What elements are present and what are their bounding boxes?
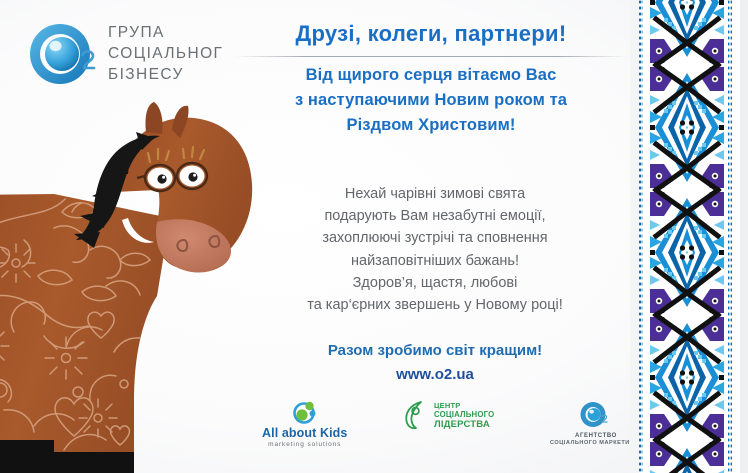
horse-hoof-left [0, 440, 54, 473]
o2-circle-logo-icon [579, 400, 613, 430]
wish-line-1: Від щирого серця вітаємо Вас [232, 63, 630, 88]
csl-line-3: ЛІДЕРСТВА [434, 420, 494, 430]
body-line-3: захоплюючі зустрічі та сповнення [240, 227, 630, 249]
website-url[interactable]: www.o2.ua [240, 364, 630, 386]
border-selvedge-left [639, 0, 643, 473]
greeting-headline: Друзі, колеги, партнери! [232, 20, 630, 48]
cartoon-horse-illustration [0, 100, 264, 473]
footer-logo-social-marketing-agency[interactable]: АГЕНТСТВО СОЦІАЛЬНОГО МАРКЕТИНГУ [550, 400, 642, 446]
leaf-hand-logo-icon [403, 400, 429, 430]
headline-divider [235, 56, 627, 57]
bubbles-logo-icon [292, 400, 318, 424]
ukrainian-embroidery-border [630, 0, 748, 473]
asm-line-2: СОЦІАЛЬНОГО МАРКЕТИНГУ [550, 440, 642, 446]
wish-line-3: Різдвом Христовим! [232, 113, 630, 138]
body-paragraph: Нехай чарівні зимові свята подарують Вам… [240, 183, 630, 316]
horse-ear-left [145, 102, 162, 134]
brand-name-line3: БІЗНЕСУ [108, 66, 184, 83]
footer-logo-all-about-kids[interactable]: All about Kids marketing solutions [262, 400, 347, 448]
aak-subtitle: marketing solutions [268, 441, 341, 448]
greeting-card: ГРУПА СОЦІАЛЬНОГО БІЗНЕСУ Друзі, колеги,… [0, 0, 748, 473]
footer-logo-center-social-leadership[interactable]: ЦЕНТР СОЦІАЛЬНОГО ЛІДЕРСТВА [403, 400, 494, 430]
footer-logos: All about Kids marketing solutions ЦЕНТР… [262, 400, 642, 460]
horse-body [0, 184, 170, 452]
body-line-5: Здоров’я, щастя, любові [240, 272, 630, 294]
body-line-2: подарують Вам незабутні емоції, [240, 205, 630, 227]
tagline: Разом зробимо світ кращим! [240, 340, 630, 362]
brand-name-line2: СОЦІАЛЬНОГО [108, 45, 222, 62]
body-line-1: Нехай чарівні зимові свята [240, 183, 630, 205]
body-line-6: та кар‘єрних звершень у Новому році! [240, 294, 630, 316]
aak-title: All about Kids [262, 426, 347, 440]
closing-block: Разом зробимо світ кращим! www.o2.ua [240, 340, 630, 386]
border-selvedge-right [728, 0, 732, 473]
body-line-4: найзаповітніших бажань! [240, 250, 630, 272]
wish-line-2: з наступаючими Новим роком та [232, 88, 630, 113]
csl-line-1: ЦЕНТР [434, 401, 494, 411]
brand-name-line1: ГРУПА [108, 24, 165, 41]
brand-logo: ГРУПА СОЦІАЛЬНОГО БІЗНЕСУ [22, 16, 222, 88]
horse-hoof-right [54, 452, 134, 473]
border-motif-band [650, 0, 724, 473]
asm-line-1: АГЕНТСТВО [575, 433, 617, 439]
o2-circle-icon [30, 24, 94, 84]
headline-block: Друзі, колеги, партнери! Від щирого серц… [232, 20, 630, 138]
